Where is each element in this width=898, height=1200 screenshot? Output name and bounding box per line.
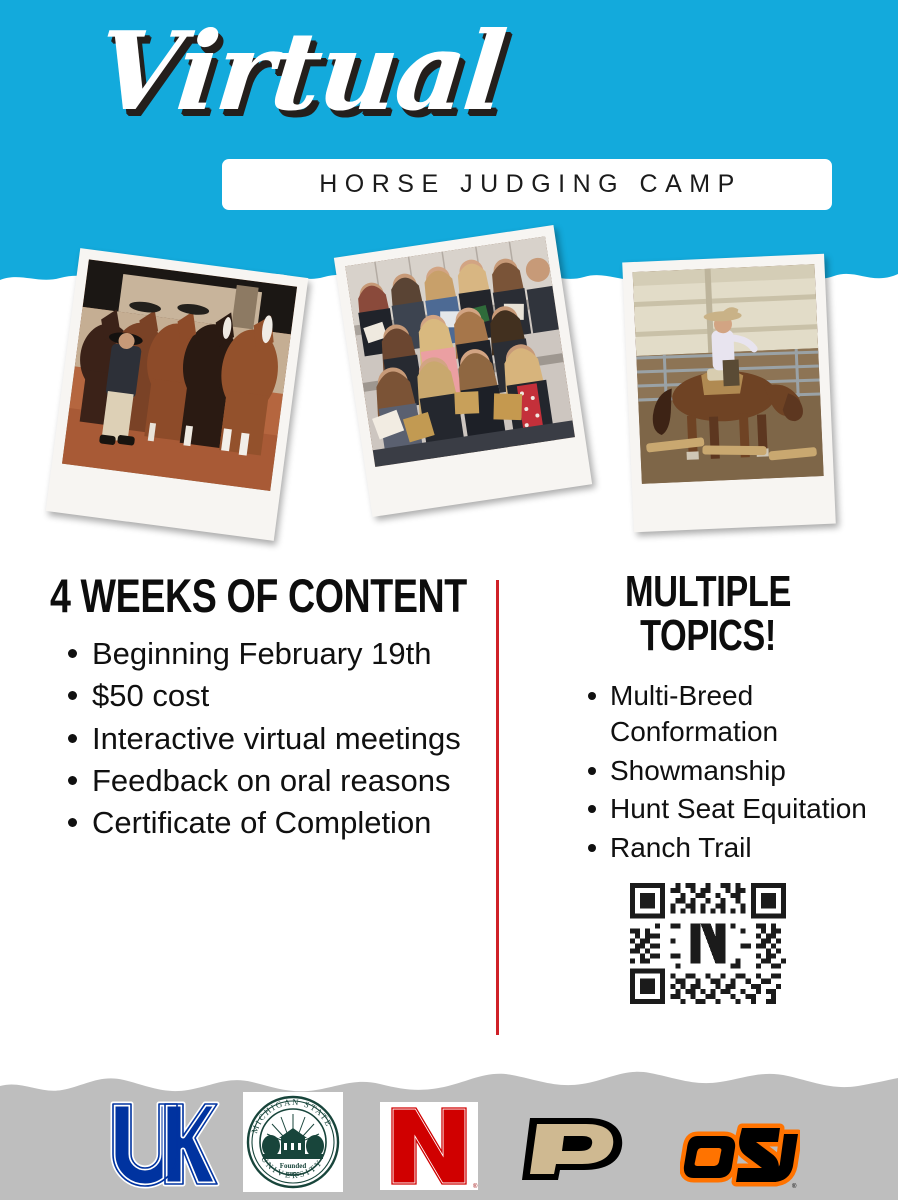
list-item: Certificate of Completion bbox=[50, 803, 470, 843]
qr-code[interactable] bbox=[625, 878, 791, 1004]
purdue-university-logo bbox=[516, 1108, 636, 1192]
right-column-heading: MULTIPLE TOPICS! bbox=[568, 570, 849, 658]
university-of-kentucky-logo bbox=[105, 1096, 220, 1192]
qr-code-wrapper[interactable] bbox=[625, 878, 791, 1004]
judging-students-photo-image bbox=[345, 236, 575, 467]
list-item: Ranch Trail bbox=[580, 830, 888, 866]
subtitle-text: HORSE JUDGING CAMP bbox=[312, 170, 742, 199]
horse-lineup-photo bbox=[46, 248, 309, 541]
list-item: Interactive virtual meetings bbox=[50, 719, 470, 759]
ranch-trail-photo bbox=[622, 254, 836, 533]
svg-text:Founded: Founded bbox=[280, 1162, 307, 1170]
list-item: Feedback on oral reasons bbox=[50, 761, 470, 801]
list-item: Showmanship bbox=[580, 753, 888, 789]
partner-logos: MICHIGAN STATE UNIVERSITY Founded 1855 ® bbox=[0, 1080, 898, 1200]
left-column: 4 WEEKS OF CONTENT Beginning February 19… bbox=[50, 572, 470, 845]
list-item: Beginning February 19th bbox=[50, 634, 470, 674]
column-divider bbox=[496, 580, 499, 1035]
left-column-heading: 4 WEEKS OF CONTENT bbox=[50, 572, 386, 620]
michigan-state-university-logo: MICHIGAN STATE UNIVERSITY Founded 1855 bbox=[243, 1092, 343, 1192]
list-item: Multi-Breed Conformation bbox=[580, 678, 888, 751]
svg-text:1855: 1855 bbox=[286, 1171, 300, 1178]
poster-title-script: Virtual bbox=[92, 16, 509, 129]
right-column: MULTIPLE TOPICS! Multi-Breed Conformatio… bbox=[528, 570, 888, 1004]
svg-text:®: ® bbox=[792, 1183, 797, 1190]
content-area: 4 WEEKS OF CONTENT Beginning February 19… bbox=[0, 556, 898, 1056]
list-item: Hunt Seat Equitation bbox=[580, 791, 888, 827]
ranch-trail-photo-image bbox=[633, 264, 824, 484]
left-column-bullet-list: Beginning February 19th $50 cost Interac… bbox=[50, 634, 470, 843]
judging-students-photo bbox=[334, 225, 592, 517]
university-of-nebraska-logo: ® bbox=[378, 1100, 480, 1192]
horse-lineup-photo-image bbox=[62, 259, 297, 491]
subtitle-banner: HORSE JUDGING CAMP bbox=[222, 159, 832, 210]
right-column-bullet-list: Multi-Breed Conformation Showmanship Hun… bbox=[528, 678, 888, 866]
oklahoma-state-university-logo: ® bbox=[680, 1114, 800, 1192]
list-item: $50 cost bbox=[50, 676, 470, 716]
svg-text:®: ® bbox=[473, 1183, 478, 1190]
